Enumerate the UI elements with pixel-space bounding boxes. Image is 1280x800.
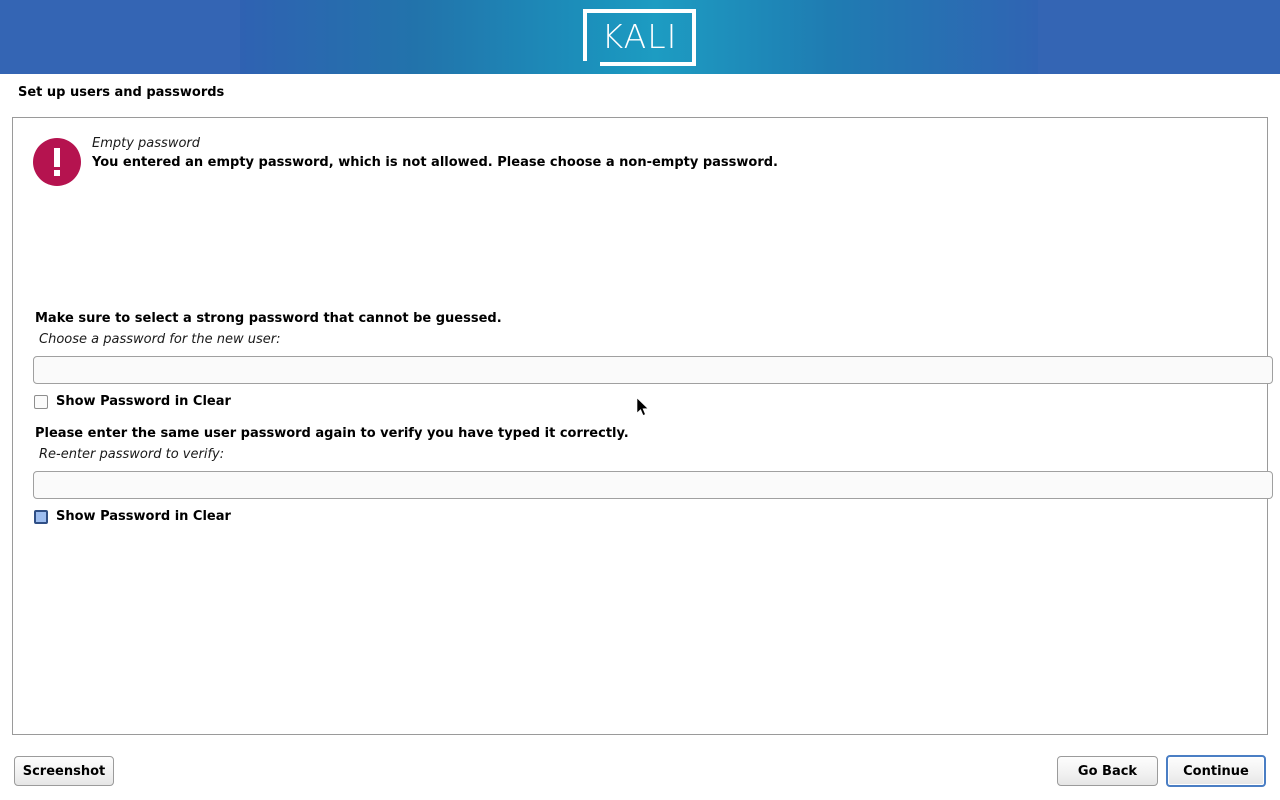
error-notice: Empty password You entered an empty pass…	[22, 127, 1252, 193]
password-input[interactable]	[33, 356, 1273, 384]
verify-password-label: Re-enter password to verify:	[39, 447, 224, 462]
page-title: Set up users and passwords	[18, 85, 224, 100]
show-password-clear-checkbox-1[interactable]: Show Password in Clear	[34, 394, 231, 409]
screenshot-button[interactable]: Screenshot	[14, 756, 114, 786]
kali-wordmark: KALI	[583, 9, 696, 66]
show-password-clear-label-2: Show Password in Clear	[56, 509, 231, 524]
choose-password-heading: Make sure to select a strong password th…	[35, 311, 502, 326]
verify-password-heading: Please enter the same user password agai…	[35, 426, 629, 441]
error-message: You entered an empty password, which is …	[92, 155, 778, 170]
continue-button[interactable]: Continue	[1166, 755, 1266, 787]
checkbox-icon-1[interactable]	[34, 395, 48, 409]
go-back-button[interactable]: Go Back	[1057, 756, 1158, 786]
exclamation-stem	[54, 148, 60, 167]
installer-banner: KALI	[0, 0, 1280, 74]
error-exclamation-icon	[33, 138, 81, 186]
exclamation-dot	[54, 170, 60, 176]
installer-content-panel: Empty password You entered an empty pass…	[12, 117, 1268, 735]
show-password-clear-label-1: Show Password in Clear	[56, 394, 231, 409]
checkbox-icon-2[interactable]	[34, 510, 48, 524]
kali-logo: KALI	[583, 9, 696, 66]
error-title: Empty password	[92, 136, 200, 151]
show-password-clear-checkbox-2[interactable]: Show Password in Clear	[34, 509, 231, 524]
choose-password-label: Choose a password for the new user:	[39, 332, 281, 347]
verify-password-input[interactable]	[33, 471, 1273, 499]
